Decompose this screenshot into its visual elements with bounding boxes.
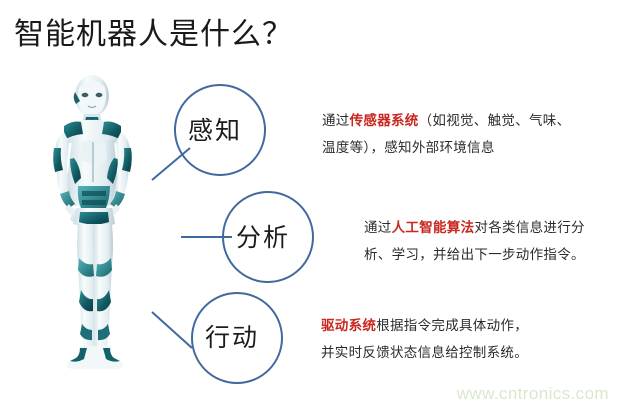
highlight-term: 人工智能算法 [392,220,475,236]
node-label-perceive: 感知 [188,118,242,143]
slide-canvas: 智能机器人是什么？ [0,0,625,412]
connector-line-perceive [152,148,190,180]
description-act: 驱动系统根据指令完成具体动作， 并实时反馈状态信息给控制系统。 [321,313,528,367]
node-label-analyze: 分析 [236,225,290,250]
text-run: 析、学习，并给出下一步动作指令。 [364,247,585,263]
text-run: 根据指令完成具体动作， [376,318,528,334]
description-perceive: 通过传感器系统（如视觉、触觉、气味、 温度等），感知外部环境信息 [322,108,570,162]
description-line: 析、学习，并给出下一步动作指令。 [364,242,585,269]
text-run: 通过 [322,113,350,129]
connector-line-act [152,312,192,348]
text-run: 温度等），感知外部环境信息 [322,140,495,156]
description-line: 驱动系统根据指令完成具体动作， [321,313,528,340]
text-run: 通过 [364,220,392,236]
highlight-term: 传感器系统 [350,113,419,129]
text-run: 对各类信息进行分 [474,220,584,236]
description-analyze: 通过人工智能算法对各类信息进行分 析、学习，并给出下一步动作指令。 [364,215,585,269]
page-title: 智能机器人是什么？ [14,16,293,54]
description-line: 并实时反馈状态信息给控制系统。 [321,340,528,367]
node-label-act: 行动 [205,325,259,350]
description-line: 通过传感器系统（如视觉、触觉、气味、 [322,108,570,135]
highlight-term: 驱动系统 [321,318,376,334]
text-run: 并实时反馈状态信息给控制系统。 [321,345,528,361]
description-line: 温度等），感知外部环境信息 [322,135,570,162]
watermark: www.cntronics.com [457,384,609,404]
text-run: （如视觉、触觉、气味、 [419,113,571,129]
description-line: 通过人工智能算法对各类信息进行分 [364,215,585,242]
